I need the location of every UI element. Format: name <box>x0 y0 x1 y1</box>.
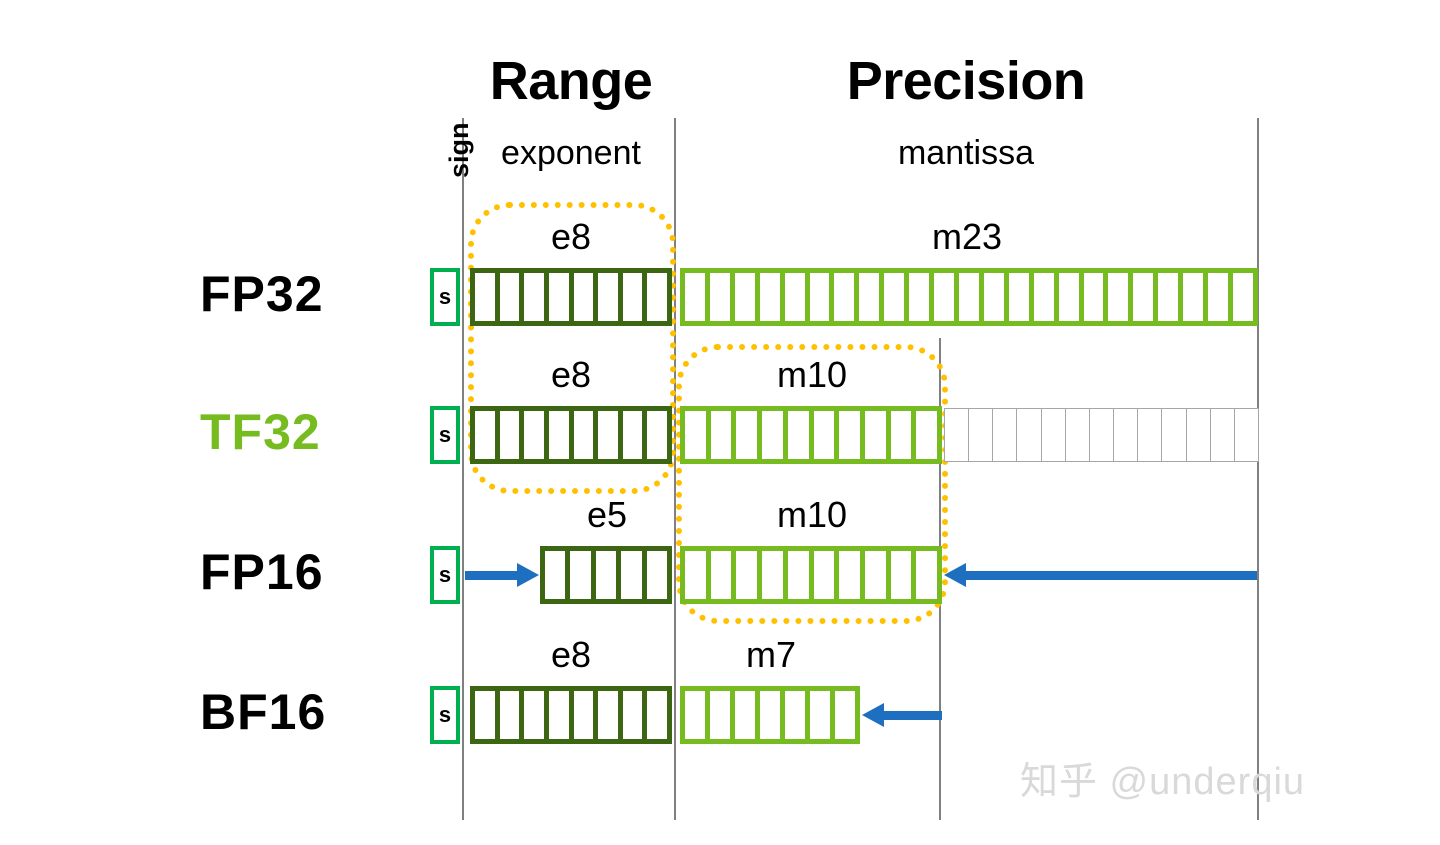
row-label-fp32: FP32 <box>200 265 324 323</box>
bit-cell <box>1108 273 1128 321</box>
bit-cell <box>814 551 835 599</box>
bit-cell <box>1161 408 1186 462</box>
bit-cell <box>760 273 780 321</box>
bit-cell <box>1210 408 1235 462</box>
bit-cell <box>1009 273 1029 321</box>
bit-cell <box>524 273 544 321</box>
tf32-mantissa-caption: m10 <box>678 354 946 396</box>
bit-cell <box>916 551 937 599</box>
bf16-mantissa-caption: m7 <box>678 634 864 676</box>
bit-cell <box>500 273 520 321</box>
bit-cell <box>1059 273 1079 321</box>
row-label-bf16: BF16 <box>200 683 326 741</box>
bit-cell <box>1186 408 1211 462</box>
fp16-mantissa-caption: m10 <box>678 494 946 536</box>
bit-cell <box>814 411 835 459</box>
fp16-exponent-bits <box>540 546 672 604</box>
bit-cell <box>788 411 809 459</box>
bit-cell <box>574 273 594 321</box>
diagram-canvas: sign Range exponent Precision mantissa F… <box>0 0 1440 845</box>
row-label-tf32: TF32 <box>200 403 321 461</box>
bit-cell <box>1041 408 1066 462</box>
bit-cell <box>1113 408 1138 462</box>
fp16-sign-bit: s <box>430 546 460 604</box>
bit-cell <box>839 551 860 599</box>
bit-cell <box>834 273 854 321</box>
precision-subtitle: mantissa <box>676 134 1256 173</box>
precision-title: Precision <box>676 50 1256 112</box>
bit-cell <box>685 273 705 321</box>
bit-cell <box>685 551 706 599</box>
bit-cell <box>984 273 1004 321</box>
bit-cell <box>891 551 912 599</box>
bit-cell <box>762 411 783 459</box>
bit-cell <box>549 411 569 459</box>
bit-cell <box>884 273 904 321</box>
fp32-exponent-caption: e8 <box>468 216 674 258</box>
fp32-sign-bit: s <box>430 268 460 326</box>
bit-cell <box>574 691 594 739</box>
bit-cell <box>785 273 805 321</box>
bit-cell <box>524 411 544 459</box>
tf32-unused-bits <box>944 408 1258 462</box>
bit-cell <box>839 411 860 459</box>
bit-cell <box>598 411 618 459</box>
tf32-exponent-bits <box>470 406 672 464</box>
bit-cell <box>1016 408 1041 462</box>
bit-cell <box>549 273 569 321</box>
bit-cell <box>570 551 590 599</box>
bf16-mantissa-bits <box>680 686 860 744</box>
fp32-mantissa-caption: m23 <box>678 216 1256 258</box>
bit-cell <box>944 408 969 462</box>
bit-cell <box>968 408 993 462</box>
bit-cell <box>596 551 616 599</box>
bit-cell <box>916 411 937 459</box>
bit-cell <box>623 411 643 459</box>
bit-cell <box>621 551 641 599</box>
bit-cell <box>623 691 643 739</box>
bit-cell <box>835 691 855 739</box>
bit-cell <box>475 273 495 321</box>
bit-cell <box>711 551 732 599</box>
sign-divider-rule <box>462 118 464 820</box>
bit-cell <box>1158 273 1178 321</box>
bit-cell <box>475 411 495 459</box>
tf32-mantissa-bits <box>680 406 942 464</box>
fp32-mantissa-bits <box>680 268 1258 326</box>
bit-cell <box>735 273 755 321</box>
bit-cell <box>598 691 618 739</box>
bit-cell <box>736 411 757 459</box>
fp32-exponent-bits <box>470 268 672 326</box>
bit-cell <box>810 691 830 739</box>
bit-cell <box>711 411 732 459</box>
bit-cell <box>909 273 929 321</box>
bit-cell <box>647 273 667 321</box>
bit-cell <box>1137 408 1162 462</box>
bit-cell <box>785 691 805 739</box>
bit-cell <box>891 411 912 459</box>
tf32-exponent-caption: e8 <box>468 354 674 396</box>
bit-cell <box>1183 273 1203 321</box>
bit-cell <box>865 411 886 459</box>
bit-cell <box>549 691 569 739</box>
bit-cell <box>710 691 730 739</box>
bit-cell <box>788 551 809 599</box>
bit-cell <box>623 273 643 321</box>
bit-cell <box>1233 273 1253 321</box>
bit-cell <box>859 273 879 321</box>
bit-cell <box>810 273 830 321</box>
bit-cell <box>762 551 783 599</box>
fp16-exponent-caption: e5 <box>540 494 674 536</box>
bit-cell <box>500 411 520 459</box>
bit-cell <box>710 273 730 321</box>
bit-cell <box>685 691 705 739</box>
range-title: Range <box>466 50 676 112</box>
bit-cell <box>736 551 757 599</box>
bf16-exponent-bits <box>470 686 672 744</box>
bit-cell <box>1065 408 1090 462</box>
bit-cell <box>735 691 755 739</box>
bit-cell <box>500 691 520 739</box>
bit-cell <box>1234 408 1259 462</box>
bit-cell <box>760 691 780 739</box>
bf16-sign-bit: s <box>430 686 460 744</box>
bit-cell <box>545 551 565 599</box>
bit-cell <box>865 551 886 599</box>
bit-cell <box>647 551 667 599</box>
bit-cell <box>959 273 979 321</box>
bit-cell <box>647 411 667 459</box>
bit-cell <box>934 273 954 321</box>
range-subtitle: exponent <box>466 134 676 173</box>
row-label-fp16: FP16 <box>200 543 324 601</box>
right-boundary-rule <box>1257 118 1259 820</box>
bf16-exponent-caption: e8 <box>468 634 674 676</box>
bit-cell <box>1208 273 1228 321</box>
watermark-text: 知乎 @underqiu <box>1020 750 1305 805</box>
tf32-sign-bit: s <box>430 406 460 464</box>
fp16-mantissa-bits <box>680 546 942 604</box>
bit-cell <box>574 411 594 459</box>
bit-cell <box>992 408 1017 462</box>
bit-cell <box>598 273 618 321</box>
bit-cell <box>1084 273 1104 321</box>
bit-cell <box>1089 408 1114 462</box>
bit-cell <box>524 691 544 739</box>
bit-cell <box>1133 273 1153 321</box>
bit-cell <box>685 411 706 459</box>
bit-cell <box>475 691 495 739</box>
bit-cell <box>647 691 667 739</box>
bit-cell <box>1034 273 1054 321</box>
